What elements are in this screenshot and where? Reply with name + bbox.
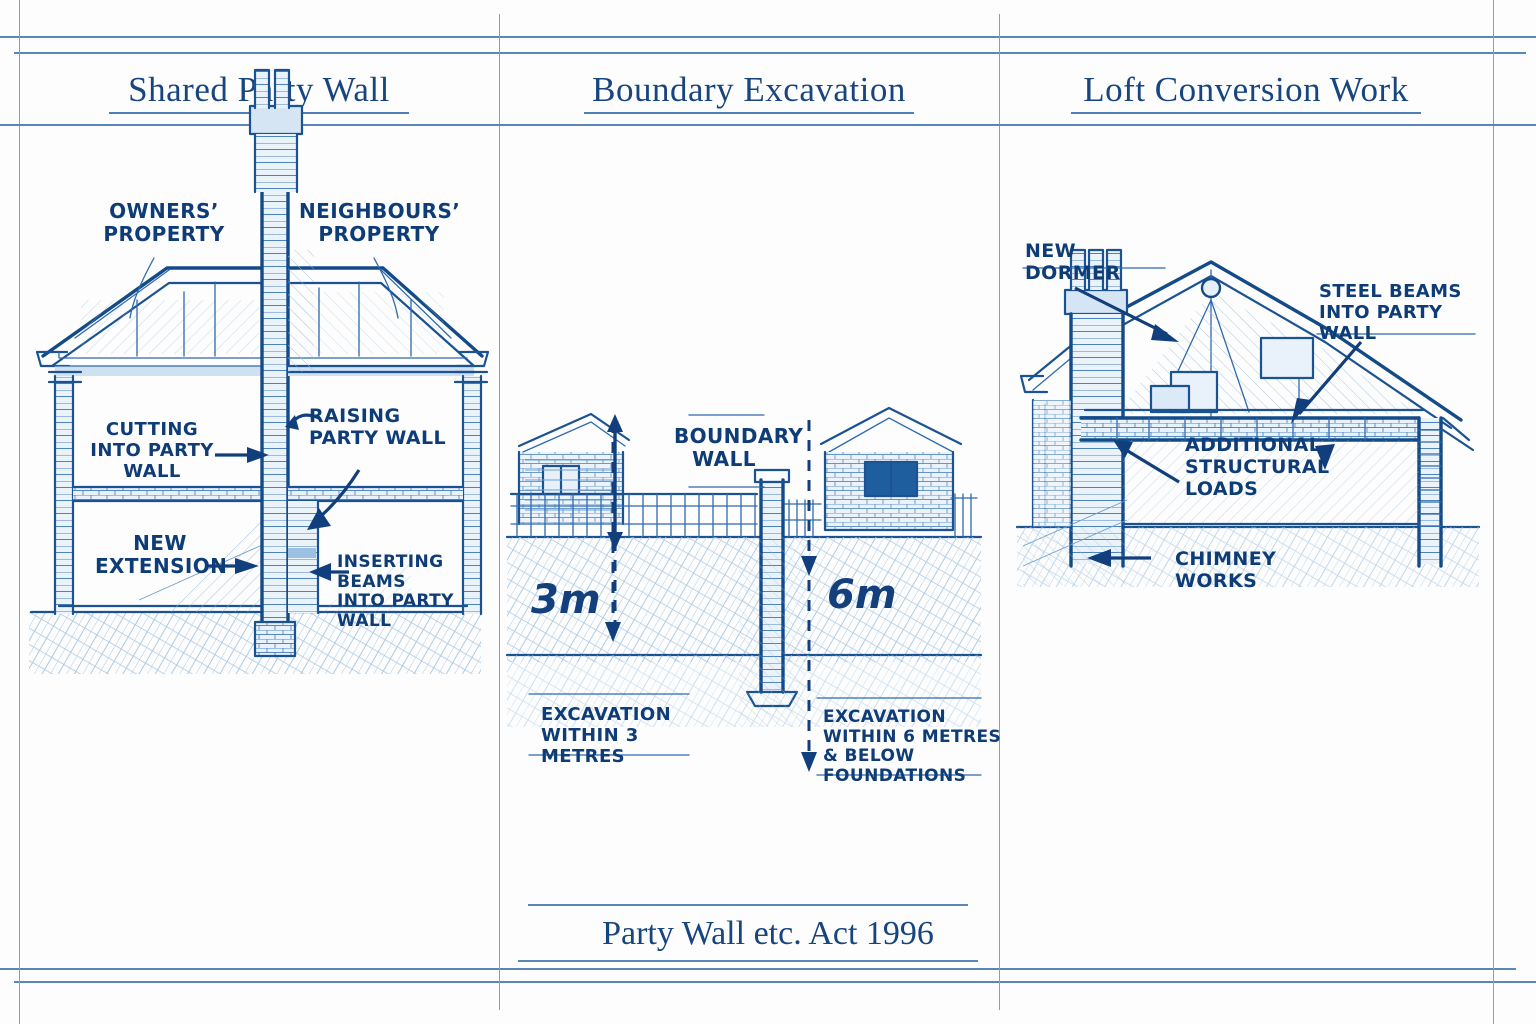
blueprint-sheet: Shared Party Wall xyxy=(0,0,1536,1024)
panel-loft-conversion-work: Loft Conversion Work xyxy=(999,0,1493,964)
annotation-chimney-works: CHIMNEY WORKS xyxy=(1175,548,1365,592)
panel-boundary-excavation: Boundary Excavation xyxy=(499,0,999,964)
annotation-new-extension: NEW EXTENSION xyxy=(95,532,225,578)
annotation-excavation-within-6-metres: EXCAVATION WITHIN 6 METRES & BELOW FOUND… xyxy=(823,708,1003,787)
annotation-dimension-6m: 6m xyxy=(827,572,897,618)
annotation-dimension-3m: 3m xyxy=(531,577,601,623)
boundary-excavation-drawing xyxy=(499,0,999,1024)
annotation-additional-structural-loads: ADDITIONAL STRUCTURAL LOADS xyxy=(1185,434,1385,500)
footer-rule-bottom xyxy=(518,960,978,962)
annotation-inserting-beams: INSERTING BEAMS INTO PARTY WALL xyxy=(337,553,512,632)
annotation-cutting-into-party-wall: CUTTING INTO PARTY WALL xyxy=(77,420,227,483)
shared-party-wall-drawing xyxy=(19,0,499,1024)
annotation-steel-beams-into-party-wall: STEEL BEAMS INTO PARTY WALL xyxy=(1319,282,1489,345)
annotation-excavation-within-3-metres: EXCAVATION WITHIN 3 METRES xyxy=(541,705,716,768)
frame-rule-right xyxy=(1493,0,1494,1024)
annotation-neighbours-property: NEIGHBOURS’ PROPERTY xyxy=(299,200,459,246)
annotation-new-dormer: NEW DORMER xyxy=(1025,240,1175,284)
panel-shared-party-wall: Shared Party Wall xyxy=(19,0,499,964)
footer-caption: Party Wall etc. Act 1996 xyxy=(0,915,1536,953)
annotation-raising-party-wall: RAISING PARTY WALL xyxy=(309,405,479,449)
annotation-owners-property: OWNERS’ PROPERTY xyxy=(99,200,229,246)
annotation-boundary-wall: BOUNDARY WALL xyxy=(674,425,774,471)
footer-rule-top xyxy=(528,904,968,906)
loft-conversion-drawing xyxy=(999,0,1493,1024)
